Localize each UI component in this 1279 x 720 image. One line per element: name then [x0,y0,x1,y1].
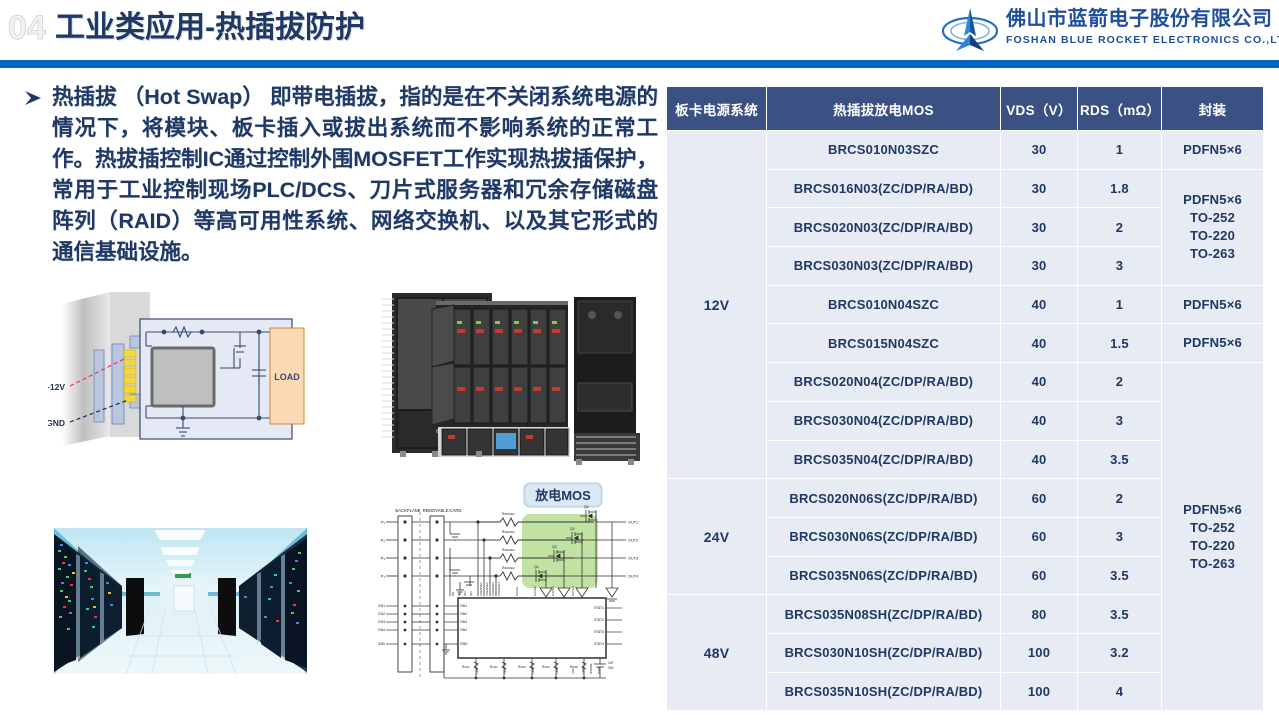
package-line: TO-263 [1164,555,1261,573]
cell-mos: BRCS035N10SH(ZC/DP/RA/BD) [767,672,1001,711]
svg-text:EN1: EN1 [378,604,385,608]
blue-rocket-arrow-logo-icon [940,6,1000,54]
package-line: TO-252 [1164,519,1261,537]
svg-text:VSENSE3: VSENSE3 [491,582,495,596]
table-header-row: 板卡电源系统 热插拔放电MOS VDS（V） RDS（mΩ） 封装 [667,87,1264,131]
cell-mos: BRCS020N06S(ZC/DP/RA/BD) [767,479,1001,518]
svg-text:RLIM4: RLIM4 [542,665,550,669]
svg-text:ICOMM: ICOMM [589,663,593,674]
svg-text:Q3: Q3 [552,545,557,549]
svg-text:16V: 16V [608,666,615,670]
svg-text:GATE1: GATE1 [515,586,519,596]
cell-rds: 3.5 [1078,440,1162,479]
cell-vds: 30 [1001,169,1078,208]
svg-text:OUT4: OUT4 [628,575,638,579]
cell-rds: 2 [1078,208,1162,247]
description-paragraph: 热插拔 （Hot Swap） 即带电插拔，指的是在不关闭系统电源的情况下，将模块… [52,82,658,268]
cell-vds: 60 [1001,479,1078,518]
svg-text:EN3: EN3 [378,620,385,624]
cell-mos: BRCS020N03(ZC/DP/RA/BD) [767,208,1001,247]
hot-swap-circuit-diagram-icon: 放电MOS BACKPLANE REMOVABLE CARD P₁P₂ [378,478,641,700]
group-cell-48v: 48V [667,595,767,711]
cell-mos: BRCS035N08SH(ZC/DP/RA/BD) [767,595,1001,634]
cell-rds: 3 [1078,247,1162,286]
cell-package: PDFN5×6 [1162,131,1264,170]
cell-package: PDFN5×6 [1162,285,1264,324]
svg-text:IN1: IN1 [451,591,455,596]
column-header-mos: 热插拔放电MOS [767,87,1001,131]
svg-text:+12V: +12V [48,382,65,392]
cell-rds: 3 [1078,517,1162,556]
svg-text:P₂: P₂ [381,538,386,543]
cell-rds: 2 [1078,363,1162,402]
cell-mos: BRCS030N06S(ZC/DP/RA/BD) [767,517,1001,556]
cell-package: PDFN5×6 [1162,324,1264,363]
cell-mos: BRCS010N03SZC [767,131,1001,170]
svg-text:ON1: ON1 [460,604,467,608]
svg-text:IN3: IN3 [463,591,467,596]
cell-mos: BRCS030N10SH(ZC/DP/RA/BD) [767,633,1001,672]
cell-rds: 1 [1078,285,1162,324]
svg-text:RLIM3: RLIM3 [518,665,526,669]
svg-text:OUT1: OUT1 [628,521,638,525]
svg-text:OUT2: OUT2 [628,539,638,543]
svg-text:EN4: EN4 [378,628,385,632]
svg-text:STAT4: STAT4 [594,642,604,646]
logo-english-name: FOSHAN BLUE ROCKET ELECTRONICS CO.,LTD. [1006,33,1279,47]
svg-text:ON2: ON2 [460,612,467,616]
package-line: TO-220 [1164,537,1261,555]
cell-vds: 30 [1001,208,1078,247]
cell-mos: BRCS015N04SZC [767,324,1001,363]
svg-text:RLIM1: RLIM1 [462,665,470,669]
svg-text:Q2: Q2 [570,527,575,531]
cell-rds: 3.2 [1078,633,1162,672]
cell-rds: 2 [1078,479,1162,518]
svg-text:OUT3: OUT3 [628,557,638,561]
group-cell-12v: 12V [667,131,767,479]
package-line: PDFN5×6 [1164,191,1261,209]
header-accent-rule [0,60,1279,68]
svg-text:放电MOS: 放电MOS [534,488,591,503]
cell-rds: 1.8 [1078,169,1162,208]
slide-header: 04 工业类应用-热插拔防护 佛山市蓝箭电子股份有限公司 FOSHAN BLUE… [0,0,1279,68]
svg-text:GND: GND [460,642,468,646]
svg-text:Q1: Q1 [584,505,589,509]
svg-text:GATE4: GATE4 [571,586,575,596]
description-block: 热插拔 （Hot Swap） 即带电插拔，指的是在不关闭系统电源的情况下，将模块… [18,82,658,268]
package-line: TO-263 [1164,245,1261,263]
svg-text:1nF: 1nF [608,661,614,665]
svg-text:P₃: P₃ [381,556,386,561]
svg-text:IN4: IN4 [469,591,473,596]
cell-vds: 100 [1001,672,1078,711]
page-title: 工业类应用-热插拔防护 [55,5,365,51]
data-center-figure [48,516,313,694]
cell-vds: 40 [1001,363,1078,402]
cell-rds: 3.5 [1078,556,1162,595]
svg-text:GND: GND [378,642,386,646]
svg-text:ON4: ON4 [460,628,467,632]
logo-chinese-name: 佛山市蓝箭电子股份有限公司 [1006,6,1273,32]
svg-text:EN2: EN2 [378,612,385,616]
package-line: TO-220 [1164,227,1261,245]
cell-mos: BRCS020N04(ZC/DP/RA/BD) [767,363,1001,402]
table-body: 12V BRCS010N03SZC 30 1 PDFN5×6 BRCS016N0… [667,131,1264,711]
svg-text:STAT2: STAT2 [594,618,604,622]
blade-server-figure [378,283,641,470]
svg-text:GATE2: GATE2 [533,586,537,596]
hot-swap-schematic-icon: LOAD +12V GND [48,286,315,464]
svg-text:STAT3: STAT3 [594,630,604,634]
package-line: PDFN5×6 [1164,501,1261,519]
arrow-bullet-icon [22,88,44,108]
svg-text:VSENSE4: VSENSE4 [497,582,501,596]
cell-mos: BRCS016N03(ZC/DP/RA/BD) [767,169,1001,208]
svg-text:P₄: P₄ [381,574,386,579]
group-cell-24v: 24V [667,479,767,595]
cell-rds: 4 [1078,672,1162,711]
product-specification-table: 板卡电源系统 热插拔放电MOS VDS（V） RDS（mΩ） 封装 12V BR… [666,86,1264,711]
svg-text:RLIM2: RLIM2 [490,665,498,669]
svg-text:RPWR: RPWR [570,665,578,669]
hot-swap-circuit-figure: 放电MOS BACKPLANE REMOVABLE CARD P₁P₂ [378,478,641,700]
cell-rds: 3 [1078,401,1162,440]
svg-text:RSENSE2: RSENSE2 [502,530,515,534]
svg-text:RSENSE3: RSENSE3 [502,548,515,552]
cell-vds: 60 [1001,517,1078,556]
cell-rds: 1.5 [1078,324,1162,363]
svg-text:STAT1: STAT1 [594,606,604,610]
column-header-power-system: 板卡电源系统 [667,87,767,131]
svg-text:P₁: P₁ [381,520,386,525]
cell-vds: 30 [1001,131,1078,170]
cell-mos: BRCS035N04(ZC/DP/RA/BD) [767,440,1001,479]
cell-vds: 30 [1001,247,1078,286]
column-header-package: 封装 [1162,87,1264,131]
svg-text:VSENSE1: VSENSE1 [479,582,483,596]
svg-text:BACKPLANE: BACKPLANE [395,508,420,513]
package-line: TO-252 [1164,209,1261,227]
svg-text:Q4: Q4 [534,565,539,569]
svg-text:ON3: ON3 [460,620,467,624]
column-header-vds: VDS（V） [1001,87,1078,131]
cell-mos: BRCS030N03(ZC/DP/RA/BD) [767,247,1001,286]
svg-text:REMOVABLE CARD: REMOVABLE CARD [423,508,462,513]
cell-vds: 60 [1001,556,1078,595]
table-row: 12V BRCS010N03SZC 30 1 PDFN5×6 [667,131,1264,170]
column-header-rds: RDS（mΩ） [1078,87,1162,131]
cell-rds: 3.5 [1078,595,1162,634]
blade-server-photo-icon [378,283,641,470]
data-center-photo-icon [48,516,313,694]
cell-vds: 40 [1001,324,1078,363]
cell-package-merged-1: PDFN5×6 TO-252 TO-220 TO-263 [1162,169,1264,285]
cell-vds: 40 [1001,401,1078,440]
svg-text:LOAD: LOAD [274,372,300,382]
cell-package-merged-2: PDFN5×6 TO-252 TO-220 TO-263 [1162,363,1264,711]
svg-text:VSENSE2: VSENSE2 [485,582,489,596]
cell-mos: BRCS035N06S(ZC/DP/RA/BD) [767,556,1001,595]
cell-mos: BRCS010N04SZC [767,285,1001,324]
cell-rds: 1 [1078,131,1162,170]
cell-mos: BRCS030N04(ZC/DP/RA/BD) [767,401,1001,440]
section-number: 04 [8,8,46,48]
cell-vds: 40 [1001,440,1078,479]
svg-text:RSENSE4: RSENSE4 [502,566,515,570]
cell-vds: 40 [1001,285,1078,324]
cell-vds: 100 [1001,633,1078,672]
hot-swap-schematic-figure: LOAD +12V GND [48,286,315,464]
cell-vds: 80 [1001,595,1078,634]
svg-text:RSENSE1: RSENSE1 [502,512,515,516]
svg-text:GATE3: GATE3 [551,586,555,596]
svg-text:GND: GND [48,418,65,428]
company-logo: 佛山市蓝箭电子股份有限公司 FOSHAN BLUE ROCKET ELECTRO… [940,6,1272,54]
